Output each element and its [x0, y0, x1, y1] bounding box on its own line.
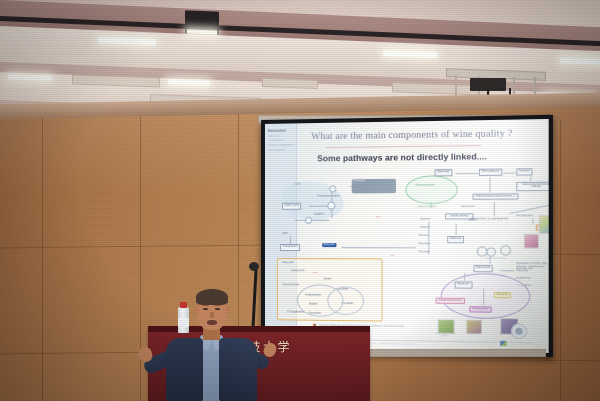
bottle-label: [178, 318, 189, 327]
node-stilbenes: Stilbenes: [447, 236, 464, 243]
photo-caption-1: Veraison: [462, 333, 485, 336]
tag-condensed-tannins: Condensed tannins: [436, 298, 465, 305]
partner-logo-icon: [500, 341, 506, 346]
node-flavonoids: Flavonoids: [474, 265, 493, 272]
tag-flavonols: Flavonols: [494, 292, 511, 299]
blazer-right: [219, 338, 257, 401]
node-carbon-fixation: Carbon fixation: [417, 206, 436, 209]
lecture-hall-photo: Rationales Flavonol modification Cultiva…: [0, 0, 600, 401]
tag-anthocyanins: Anthocyanins: [469, 306, 491, 313]
node-flavanols: Flavanols: [455, 281, 472, 288]
blazer-left: [166, 338, 203, 401]
sidebar-item-2: Conclusions: [268, 147, 296, 151]
slide-subtitle: Some pathways are not directly linked...…: [317, 151, 487, 163]
microphone-head: [249, 262, 259, 271]
photo-lignin-section: [539, 215, 549, 234]
eye-left: [203, 308, 208, 310]
node-o2: CO2: [295, 184, 301, 187]
node-atp: NADPH: [314, 214, 324, 217]
sidebar-item-0: Flavonol modification: [268, 133, 296, 141]
photo-caption-0: Young berries green grapes: [432, 333, 457, 338]
annotation-red-1: +++: [348, 185, 356, 189]
caption-molecule: Flavonoid backbone: [475, 258, 518, 261]
institution-logo: [511, 323, 527, 339]
node-monolignans: Monolignans: [516, 215, 532, 218]
node-2-oxoglutarate: 2-Oxoglutarate: [287, 311, 305, 314]
node-shikimate: Shikimate: [435, 169, 453, 176]
hair: [196, 289, 228, 305]
node-co2: ATP: [281, 232, 289, 237]
ear-right: [225, 306, 230, 314]
node-phenylalanine: Phenylalanine: [479, 169, 502, 176]
ear-left: [194, 306, 199, 314]
node-general-phenylpropanoid-pathway: General phenylpropanoid pathway: [516, 182, 548, 191]
photo-stained-tissue: [524, 234, 539, 249]
projection-screen: Rationales Flavonol modification Cultiva…: [261, 115, 553, 358]
track-light-fixture: [185, 10, 219, 34]
ceiling-vent: [262, 78, 318, 89]
node-isoflavones: Flavones: [516, 270, 528, 273]
bottle-cap: [180, 302, 187, 308]
node-citrate: Citrate: [323, 278, 331, 281]
tag-enzymes: Enzymes: [322, 243, 336, 247]
node-calvin-cycle: Calvin cycle: [282, 203, 301, 210]
label-acetyl-coa-link: Acetyl-CoA: [461, 206, 475, 209]
annotation-red-2: +++: [374, 216, 382, 220]
mouth: [207, 320, 217, 325]
annotation-red-4: +++: [311, 271, 318, 275]
annotation-red-3: +++: [389, 254, 397, 258]
sidebar-heading: Rationales: [268, 128, 296, 132]
node-nadph: Proanthocyanidins: [317, 196, 339, 199]
eyebrow-left: [202, 304, 209, 306]
node-photosynthesis: Photosynthesis: [416, 185, 435, 188]
presentation-slide: Rationales Flavonol modification Cultiva…: [265, 119, 549, 353]
node-tyrosine: Tyrosine: [516, 168, 532, 175]
sidebar-item-1: Cultivar adaptation: [268, 142, 296, 146]
node-fatty-acid: Fatty acid: [282, 262, 294, 265]
title-divider: [325, 145, 481, 148]
node-acetyl-coa: Acetyl-CoA: [291, 270, 305, 273]
photosynthesis-oval: [405, 175, 457, 204]
eye-right: [215, 308, 220, 310]
slide-title: What are the main components of wine qua…: [311, 128, 512, 142]
callout-voc-synthesis: Chlorophyll: [352, 179, 396, 193]
nose: [210, 312, 214, 318]
eyebrow-right: [214, 304, 221, 306]
node-succinyl-coa: Succinyl-CoA: [283, 284, 299, 287]
node-hydroxycinnamic-acids: Hydroxycinnamic acids (coumaric...): [473, 193, 519, 200]
node-transporters: Transporters: [280, 244, 300, 251]
